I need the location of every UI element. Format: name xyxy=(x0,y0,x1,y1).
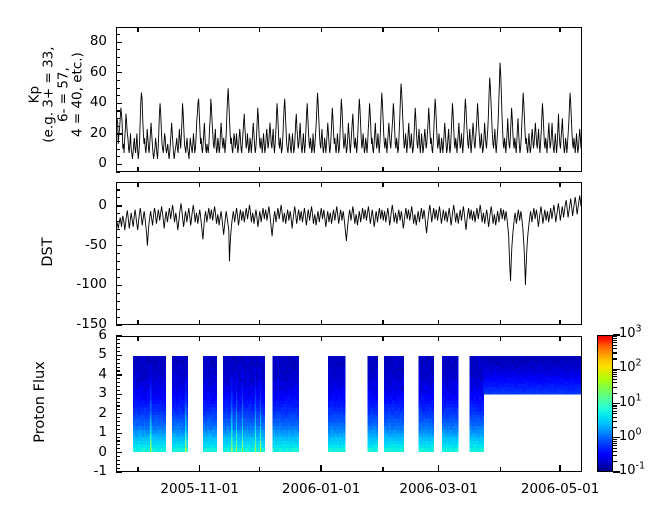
y-minor-tick-mark xyxy=(116,205,120,206)
heatmap-cell xyxy=(165,422,167,426)
heatmap-cell xyxy=(457,397,459,401)
x-minor-tick-mark xyxy=(382,320,383,325)
heatmap-cell xyxy=(263,426,265,430)
heatmap-cell xyxy=(432,367,434,371)
heatmap-cell xyxy=(165,382,167,386)
heatmap-cell xyxy=(216,441,218,445)
heatmap-cell xyxy=(165,411,167,415)
kp-plot-area xyxy=(117,28,581,171)
heatmap-cell xyxy=(403,448,405,452)
y-minor-tick-mark xyxy=(116,197,120,198)
heatmap-cell xyxy=(263,382,265,386)
heatmap-cell xyxy=(263,400,265,404)
x-minor-tick-mark xyxy=(321,320,322,325)
data-line xyxy=(117,196,581,285)
heatmap-cell xyxy=(457,382,459,386)
panel-dst xyxy=(116,182,582,325)
heatmap-cell xyxy=(432,378,434,382)
y-minor-tick-mark xyxy=(116,253,120,254)
heatmap-cell xyxy=(344,378,346,382)
heatmap-cell xyxy=(457,364,459,368)
heatmap-cell xyxy=(298,448,300,452)
y-minor-tick-mark xyxy=(116,103,120,104)
heatmap-cell xyxy=(344,382,346,386)
heatmap-cell xyxy=(186,371,188,375)
heatmap-cell xyxy=(403,378,405,382)
y-minor-tick-mark xyxy=(116,88,120,89)
heatmap-cell xyxy=(165,430,167,434)
heatmap-cell xyxy=(298,400,300,404)
heatmap-cell xyxy=(298,393,300,397)
heatmap-cell xyxy=(165,415,167,419)
heatmap-cell xyxy=(186,404,188,408)
heatmap-cell xyxy=(432,415,434,419)
heatmap-cell xyxy=(165,426,167,430)
heatmap-cell xyxy=(482,397,484,401)
y-minor-tick-mark xyxy=(116,65,120,66)
heatmap-cell xyxy=(457,393,459,397)
heatmap-cell xyxy=(263,364,265,368)
heatmap-cell xyxy=(377,426,378,430)
x-minor-tick-mark xyxy=(321,167,322,172)
x-minor-tick-mark xyxy=(559,320,560,325)
heatmap-cell xyxy=(344,393,346,397)
heatmap-cell xyxy=(377,422,378,426)
heatmap-cell xyxy=(457,437,459,441)
heatmap-cell xyxy=(377,367,378,371)
heatmap-cell xyxy=(298,415,300,419)
heatmap-cell xyxy=(344,408,346,412)
heatmap-cell xyxy=(344,411,346,415)
x-minor-tick-mark xyxy=(137,27,138,32)
x-minor-tick-mark xyxy=(438,27,439,32)
heatmap-cell xyxy=(216,404,218,408)
heatmap-cell xyxy=(457,444,459,448)
heatmap-cell xyxy=(186,389,188,393)
heatmap-cell xyxy=(344,367,346,371)
heatmap-cell xyxy=(186,437,188,441)
heatmap-cell xyxy=(298,389,300,393)
heatmap-cell xyxy=(432,448,434,452)
heatmap-cell xyxy=(263,444,265,448)
heatmap-cell xyxy=(186,375,188,379)
heatmap-cell xyxy=(186,419,188,423)
heatmap-cell xyxy=(457,386,459,390)
heatmap-cell xyxy=(186,408,188,412)
heatmap-cell xyxy=(377,371,378,375)
heatmap-cell xyxy=(165,364,167,368)
heatmap-cell xyxy=(263,356,265,360)
heatmap-cell xyxy=(263,411,265,415)
y-minor-tick-mark xyxy=(116,133,120,134)
heatmap-cell xyxy=(165,389,167,393)
heatmap-cell xyxy=(432,375,434,379)
kp-axis-title: Kp(e.g. 3+ = 33,6- = 57,4 = 40, etc.) xyxy=(27,0,84,194)
heatmap-cell xyxy=(186,386,188,390)
heatmap-cell xyxy=(298,404,300,408)
heatmap-cell xyxy=(432,419,434,423)
heatmap-cell xyxy=(216,422,218,426)
heatmap-cell xyxy=(165,419,167,423)
heatmap-cell xyxy=(186,433,188,437)
heatmap-cell xyxy=(432,433,434,437)
heatmap-cell xyxy=(263,389,265,393)
y-minor-tick-mark xyxy=(116,126,120,127)
heatmap-cell xyxy=(216,386,218,390)
heatmap-cell xyxy=(432,400,434,404)
y-minor-tick-mark xyxy=(116,245,120,246)
heatmap-cell xyxy=(457,426,459,430)
heatmap-cell xyxy=(403,430,405,434)
heatmap-cell xyxy=(403,408,405,412)
y-minor-tick-mark xyxy=(116,49,120,50)
heatmap-cell xyxy=(457,433,459,437)
heatmap-cell xyxy=(298,397,300,401)
heatmap-cell xyxy=(186,360,188,364)
x-minor-tick-mark xyxy=(259,182,260,187)
heatmap-cell xyxy=(344,437,346,441)
x-minor-tick-mark xyxy=(137,320,138,325)
heatmap-cell xyxy=(344,444,346,448)
y-minor-tick-mark xyxy=(116,34,120,35)
heatmap-cell xyxy=(482,444,484,448)
heatmap-cell xyxy=(216,437,218,441)
heatmap-cell xyxy=(432,422,434,426)
heatmap-cell xyxy=(165,444,167,448)
heatmap-cell xyxy=(263,419,265,423)
heatmap-cell xyxy=(216,375,218,379)
y-minor-tick-mark xyxy=(116,182,120,183)
heatmap-cell xyxy=(377,433,378,437)
kp-axis-title-line: Kp xyxy=(27,0,41,194)
y-minor-tick-mark xyxy=(116,27,120,28)
heatmap-cell xyxy=(403,400,405,404)
heatmap-cell xyxy=(165,404,167,408)
dst-plot-area xyxy=(117,183,581,324)
heatmap-cell xyxy=(432,382,434,386)
heatmap-cell xyxy=(298,386,300,390)
heatmap-cell xyxy=(457,419,459,423)
heatmap-cell xyxy=(186,411,188,415)
heatmap-cell xyxy=(298,408,300,412)
heatmap-cell xyxy=(298,422,300,426)
heatmap-cell xyxy=(403,441,405,445)
heatmap-cell xyxy=(482,415,484,419)
y-minor-tick-mark xyxy=(116,164,120,165)
heatmap-cell xyxy=(344,404,346,408)
heatmap-cell xyxy=(432,426,434,430)
x-minor-tick-mark xyxy=(137,167,138,172)
x-minor-tick-mark xyxy=(500,27,501,32)
x-minor-tick-mark xyxy=(559,182,560,187)
heatmap-cell xyxy=(344,422,346,426)
heatmap-cell xyxy=(377,400,378,404)
y-minor-tick-mark xyxy=(116,229,120,230)
y-minor-tick-mark xyxy=(116,141,120,142)
x-minor-tick-mark xyxy=(559,27,560,32)
heatmap-cell xyxy=(165,371,167,375)
y-minor-tick-mark xyxy=(116,269,120,270)
y-minor-tick-mark xyxy=(116,221,120,222)
heatmap-cell xyxy=(344,386,346,390)
heatmap-cell xyxy=(165,441,167,445)
heatmap-cell xyxy=(403,386,405,390)
heatmap-cell xyxy=(377,375,378,379)
heatmap-cell xyxy=(216,426,218,430)
heatmap-cell xyxy=(298,411,300,415)
heatmap-cell xyxy=(186,393,188,397)
heatmap-cell xyxy=(216,360,218,364)
heatmap-cell xyxy=(298,419,300,423)
heatmap-cell xyxy=(457,448,459,452)
heatmap-cell xyxy=(403,397,405,401)
heatmap-cell xyxy=(344,415,346,419)
y-minor-tick-mark xyxy=(116,110,120,111)
heatmap-cell xyxy=(457,400,459,404)
heatmap-cell xyxy=(457,422,459,426)
heatmap-cell xyxy=(482,411,484,415)
heatmap-cell xyxy=(165,356,167,360)
heatmap-cell xyxy=(457,404,459,408)
heatmap-cell xyxy=(403,382,405,386)
heatmap-cell xyxy=(403,389,405,393)
heatmap-cell xyxy=(457,441,459,445)
heatmap-cell xyxy=(263,393,265,397)
heatmap-cell xyxy=(432,404,434,408)
heatmap-cell xyxy=(216,371,218,375)
heatmap-cell xyxy=(165,393,167,397)
heatmap-cell xyxy=(165,375,167,379)
heatmap-cell xyxy=(298,367,300,371)
heatmap-cell xyxy=(457,360,459,364)
heatmap-cell xyxy=(263,415,265,419)
heatmap-cell xyxy=(165,408,167,412)
x-minor-tick-mark xyxy=(321,27,322,32)
heatmap-cell xyxy=(165,400,167,404)
heatmap-cell xyxy=(263,430,265,434)
x-minor-tick-mark xyxy=(438,167,439,172)
heatmap-cell xyxy=(263,371,265,375)
x-minor-tick-mark xyxy=(199,167,200,172)
x-minor-tick-mark xyxy=(199,182,200,187)
x-minor-tick-mark xyxy=(137,182,138,187)
heatmap-cell xyxy=(298,378,300,382)
x-minor-tick-mark xyxy=(259,167,260,172)
heatmap-cell xyxy=(432,411,434,415)
heatmap-cell xyxy=(482,400,484,404)
heatmap-cell xyxy=(457,375,459,379)
heatmap-cell xyxy=(344,364,346,368)
heatmap-cell xyxy=(165,378,167,382)
heatmap-cell xyxy=(457,411,459,415)
heatmap-cell xyxy=(482,437,484,441)
x-minor-tick-mark xyxy=(259,27,260,32)
heatmap-cell xyxy=(432,364,434,368)
heatmap-cell xyxy=(377,382,378,386)
heatmap-cell xyxy=(432,360,434,364)
heatmap-cell xyxy=(377,411,378,415)
y-minor-tick-mark xyxy=(116,189,120,190)
heatmap-cell xyxy=(377,378,378,382)
heatmap-cell xyxy=(403,367,405,371)
heatmap-cell xyxy=(186,382,188,386)
y-minor-tick-mark xyxy=(116,293,120,294)
heatmap-cell xyxy=(377,415,378,419)
heatmap-cell xyxy=(216,400,218,404)
heatmap-cell xyxy=(216,393,218,397)
x-minor-tick-mark xyxy=(382,167,383,172)
y-minor-tick-mark xyxy=(116,57,120,58)
heatmap-cell xyxy=(216,382,218,386)
heatmap-cell xyxy=(482,422,484,426)
heatmap-cell xyxy=(457,430,459,434)
heatmap-cell xyxy=(263,386,265,390)
heatmap-cell xyxy=(186,444,188,448)
heatmap-cell xyxy=(186,422,188,426)
y-minor-tick-mark xyxy=(116,285,120,286)
heatmap-cell xyxy=(432,389,434,393)
heatmap-cell xyxy=(165,386,167,390)
heatmap-cell xyxy=(186,441,188,445)
heatmap-cell xyxy=(432,393,434,397)
heatmap-cell xyxy=(186,367,188,371)
y-minor-tick-mark xyxy=(116,172,120,173)
y-minor-tick-mark xyxy=(116,261,120,262)
x-minor-tick-mark xyxy=(199,27,200,32)
heatmap-cell xyxy=(216,367,218,371)
heatmap-cell xyxy=(377,408,378,412)
heatmap-cell xyxy=(403,426,405,430)
heatmap-cell xyxy=(344,371,346,375)
heatmap-cell xyxy=(344,419,346,423)
heatmap-cell xyxy=(377,386,378,390)
heatmap-cell xyxy=(403,371,405,375)
heatmap-cell xyxy=(263,422,265,426)
heatmap-cell xyxy=(344,360,346,364)
heatmap-cell xyxy=(263,378,265,382)
heatmap-cell xyxy=(216,419,218,423)
heatmap-cell xyxy=(482,441,484,445)
heatmap-cell xyxy=(377,356,378,360)
x-minor-tick-mark xyxy=(559,167,560,172)
figure-canvas: 020406080 Kp(e.g. 3+ = 33,6- = 57,4 = 40… xyxy=(0,0,665,523)
heatmap-cell xyxy=(403,437,405,441)
heatmap-cell xyxy=(457,367,459,371)
heatmap-cell xyxy=(263,437,265,441)
y-minor-tick-mark xyxy=(116,149,120,150)
heatmap-cell xyxy=(377,448,378,452)
heatmap-cell xyxy=(298,356,300,360)
heatmap-cell xyxy=(165,448,167,452)
y-minor-tick-mark xyxy=(116,156,120,157)
heatmap-cell xyxy=(403,356,405,360)
heatmap-cell xyxy=(263,367,265,371)
heatmap-cell xyxy=(432,430,434,434)
heatmap-cell xyxy=(377,437,378,441)
x-minor-tick-mark xyxy=(382,27,383,32)
heatmap-cell xyxy=(263,404,265,408)
heatmap-cell xyxy=(344,389,346,393)
heatmap-cell xyxy=(298,371,300,375)
heatmap-cell xyxy=(263,441,265,445)
heatmap-cell xyxy=(216,433,218,437)
y-minor-tick-mark xyxy=(116,95,120,96)
heatmap-cell xyxy=(377,360,378,364)
heatmap-cell xyxy=(216,378,218,382)
heatmap-cell xyxy=(344,400,346,404)
heatmap-cell xyxy=(263,408,265,412)
x-minor-tick-mark xyxy=(199,320,200,325)
heatmap-cell xyxy=(432,356,434,360)
y-minor-tick-mark xyxy=(116,301,120,302)
y-minor-tick-mark xyxy=(116,80,120,81)
x-minor-tick-mark xyxy=(259,320,260,325)
heatmap-cell xyxy=(432,437,434,441)
x-minor-tick-mark xyxy=(500,182,501,187)
heatmap-cell xyxy=(186,430,188,434)
y-minor-tick-mark xyxy=(116,42,120,43)
heatmap-cell xyxy=(216,389,218,393)
heatmap-cell xyxy=(298,441,300,445)
heatmap-cell xyxy=(344,397,346,401)
heatmap-cell xyxy=(298,437,300,441)
heatmap-cell xyxy=(377,441,378,445)
y-minor-tick-mark xyxy=(116,237,120,238)
heatmap-cell xyxy=(403,411,405,415)
heatmap-cell xyxy=(377,364,378,368)
heatmap-cell xyxy=(457,371,459,375)
y-minor-tick-mark xyxy=(116,118,120,119)
y-minor-tick-mark xyxy=(116,277,120,278)
x-minor-tick-mark xyxy=(321,182,322,187)
panel-kp xyxy=(116,27,582,172)
panel-proton-flux xyxy=(116,336,582,472)
heatmap-cell xyxy=(403,404,405,408)
x-minor-tick-mark xyxy=(500,320,501,325)
heatmap-cell xyxy=(377,419,378,423)
heatmap-cell xyxy=(482,430,484,434)
x-minor-tick-mark xyxy=(500,167,501,172)
heatmap-cell xyxy=(344,430,346,434)
heatmap-cell xyxy=(432,397,434,401)
heatmap-cell xyxy=(298,375,300,379)
heatmap-cell xyxy=(457,389,459,393)
heatmap-cell xyxy=(377,430,378,434)
heatmap-cell xyxy=(216,411,218,415)
heatmap-cell xyxy=(403,433,405,437)
heatmap-cell xyxy=(457,408,459,412)
heatmap-cell xyxy=(216,364,218,368)
heatmap-cell xyxy=(377,444,378,448)
heatmap-cell xyxy=(186,356,188,360)
heatmap-cell xyxy=(432,441,434,445)
x-minor-tick-mark xyxy=(382,182,383,187)
heatmap-cell xyxy=(344,441,346,445)
heatmap-cell xyxy=(482,408,484,412)
kp-axis-title-line: (e.g. 3+ = 33, xyxy=(42,0,56,194)
heatmap-cell xyxy=(165,360,167,364)
heatmap-cell xyxy=(263,360,265,364)
heatmap-cell xyxy=(344,356,346,360)
heatmap-cell xyxy=(216,356,218,360)
heatmap-cell xyxy=(457,356,459,360)
heatmap-cell xyxy=(263,397,265,401)
heatmap-cell xyxy=(482,419,484,423)
heatmap-cell xyxy=(403,375,405,379)
heatmap-cell xyxy=(482,426,484,430)
heatmap-cell xyxy=(165,367,167,371)
proton-flux-plot-area xyxy=(117,337,581,471)
